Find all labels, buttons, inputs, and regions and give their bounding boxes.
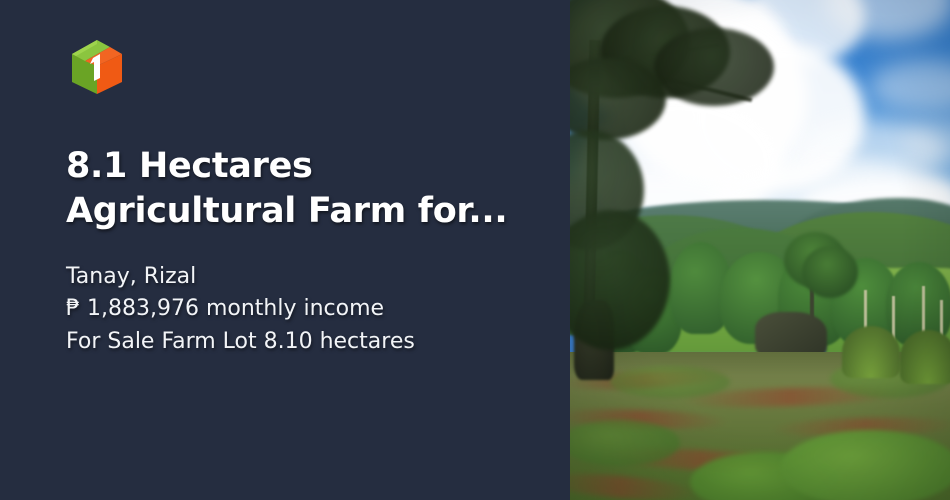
listing-location: Tanay, Rizal [66, 261, 536, 294]
house-logo[interactable] [66, 35, 128, 97]
listing-description: For Sale Farm Lot 8.10 hectares [66, 326, 536, 359]
property-photo [570, 0, 950, 500]
listing-text-block: 8.1 Hectares Agricultural Farm for... Ta… [66, 144, 536, 358]
page-title: 8.1 Hectares Agricultural Farm for... [66, 144, 536, 234]
grass-tuft [842, 326, 900, 378]
listing-price: ₱ 1,883,976 monthly income [66, 293, 536, 326]
listing-preview-card: 8.1 Hectares Agricultural Farm for... Ta… [0, 0, 950, 500]
tree-canopy [654, 28, 774, 106]
crop-clump [780, 430, 950, 500]
listing-meta: Tanay, Rizal ₱ 1,883,976 monthly income … [66, 261, 536, 359]
info-panel: 8.1 Hectares Agricultural Farm for... Ta… [0, 0, 570, 500]
grass-tuft [690, 330, 744, 374]
grass-tuft [900, 330, 950, 384]
small-tree-canopy [802, 246, 858, 298]
